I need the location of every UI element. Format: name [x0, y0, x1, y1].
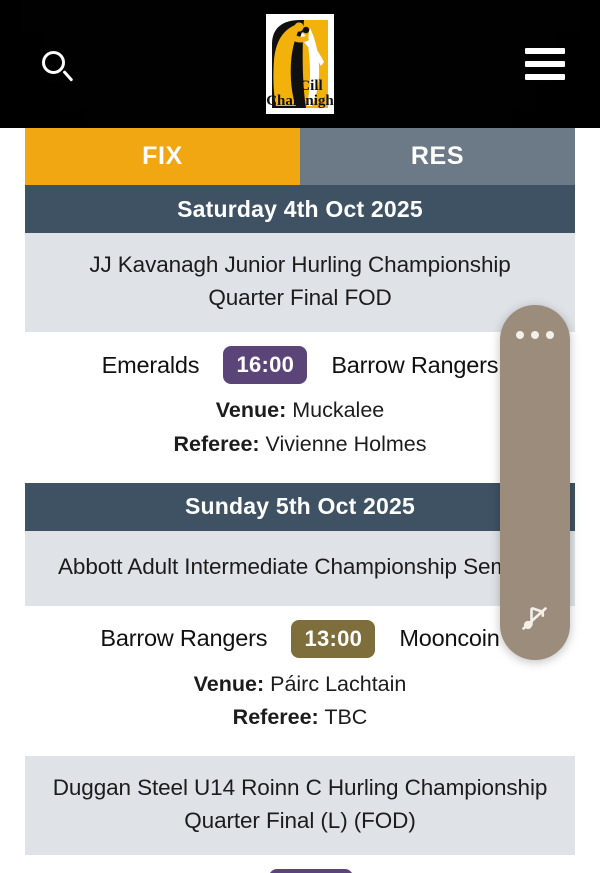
- logo-text-line1: Cill: [299, 78, 322, 94]
- floating-media-widget[interactable]: [500, 305, 570, 660]
- match-teams: Barrow Rangers 13:00 Mooncoin: [25, 620, 575, 658]
- match-time-badge[interactable]: 16:00: [223, 346, 307, 384]
- team-away: Mooncoin: [399, 625, 499, 652]
- match-row[interactable]: Emeralds 16:00 Barrow Rangers Venue: Muc…: [25, 332, 575, 473]
- section-spacer: [25, 746, 575, 756]
- logo-text-line2: Chainnigh: [266, 93, 334, 109]
- venue-value: Páirc Lachtain: [270, 672, 406, 696]
- competition-title: JJ Kavanagh Junior Hurling Championship …: [25, 233, 575, 332]
- kilkenny-gaa-logo[interactable]: Cill Chainnigh: [266, 14, 334, 114]
- tab-fixtures[interactable]: FIX: [25, 128, 300, 185]
- match-time-badge[interactable]: 13:00: [291, 620, 375, 658]
- referee-value: TBC: [324, 705, 367, 729]
- date-header: Saturday 4th Oct 2025: [25, 185, 575, 233]
- tab-bar: FIX RES: [25, 128, 575, 185]
- app-root: Cill Chainnigh FIX RES Saturday 4th Oct …: [0, 0, 600, 873]
- venue-label: Venue:: [194, 672, 265, 696]
- match-row[interactable]: Blacks and Whites 13:30 Barrow Rangers: [25, 855, 575, 873]
- search-glyph: [42, 51, 68, 77]
- referee-value: Vivienne Holmes: [266, 432, 427, 456]
- fixtures-panel: FIX RES Saturday 4th Oct 2025 JJ Kavanag…: [25, 128, 575, 873]
- referee-line: Referee: TBC: [25, 701, 575, 734]
- venue-line: Venue: Páirc Lachtain: [25, 668, 575, 701]
- site-header: Cill Chainnigh: [0, 0, 600, 128]
- section-spacer: [25, 473, 575, 483]
- match-teams: Emeralds 16:00 Barrow Rangers: [25, 346, 575, 384]
- team-home: Barrow Rangers: [100, 625, 267, 652]
- match-row[interactable]: Barrow Rangers 13:00 Mooncoin Venue: Pái…: [25, 606, 575, 747]
- referee-label: Referee:: [174, 432, 260, 456]
- music-note-muted-icon[interactable]: [515, 598, 555, 638]
- date-header: Sunday 5th Oct 2025: [25, 483, 575, 531]
- match-meta: Venue: Páirc Lachtain Referee: TBC: [25, 668, 575, 735]
- hamburger-menu-icon[interactable]: [518, 37, 572, 91]
- competition-title: Duggan Steel U14 Roinn C Hurling Champio…: [25, 756, 575, 855]
- referee-label: Referee:: [233, 705, 319, 729]
- search-icon[interactable]: [28, 37, 82, 91]
- venue-line: Venue: Muckalee: [25, 394, 575, 427]
- team-away: Barrow Rangers: [331, 352, 498, 379]
- match-meta: Venue: Muckalee Referee: Vivienne Holmes: [25, 394, 575, 461]
- three-dots-icon[interactable]: [516, 331, 554, 339]
- match-teams: Blacks and Whites 13:30 Barrow Rangers: [25, 869, 575, 873]
- venue-value: Muckalee: [292, 398, 384, 422]
- referee-line: Referee: Vivienne Holmes: [25, 428, 575, 461]
- team-home: Emeralds: [102, 352, 200, 379]
- venue-label: Venue:: [216, 398, 287, 422]
- match-time-badge[interactable]: 13:30: [269, 869, 353, 873]
- competition-title: Abbott Adult Intermediate Championship S…: [25, 531, 575, 606]
- tab-results[interactable]: RES: [300, 128, 575, 185]
